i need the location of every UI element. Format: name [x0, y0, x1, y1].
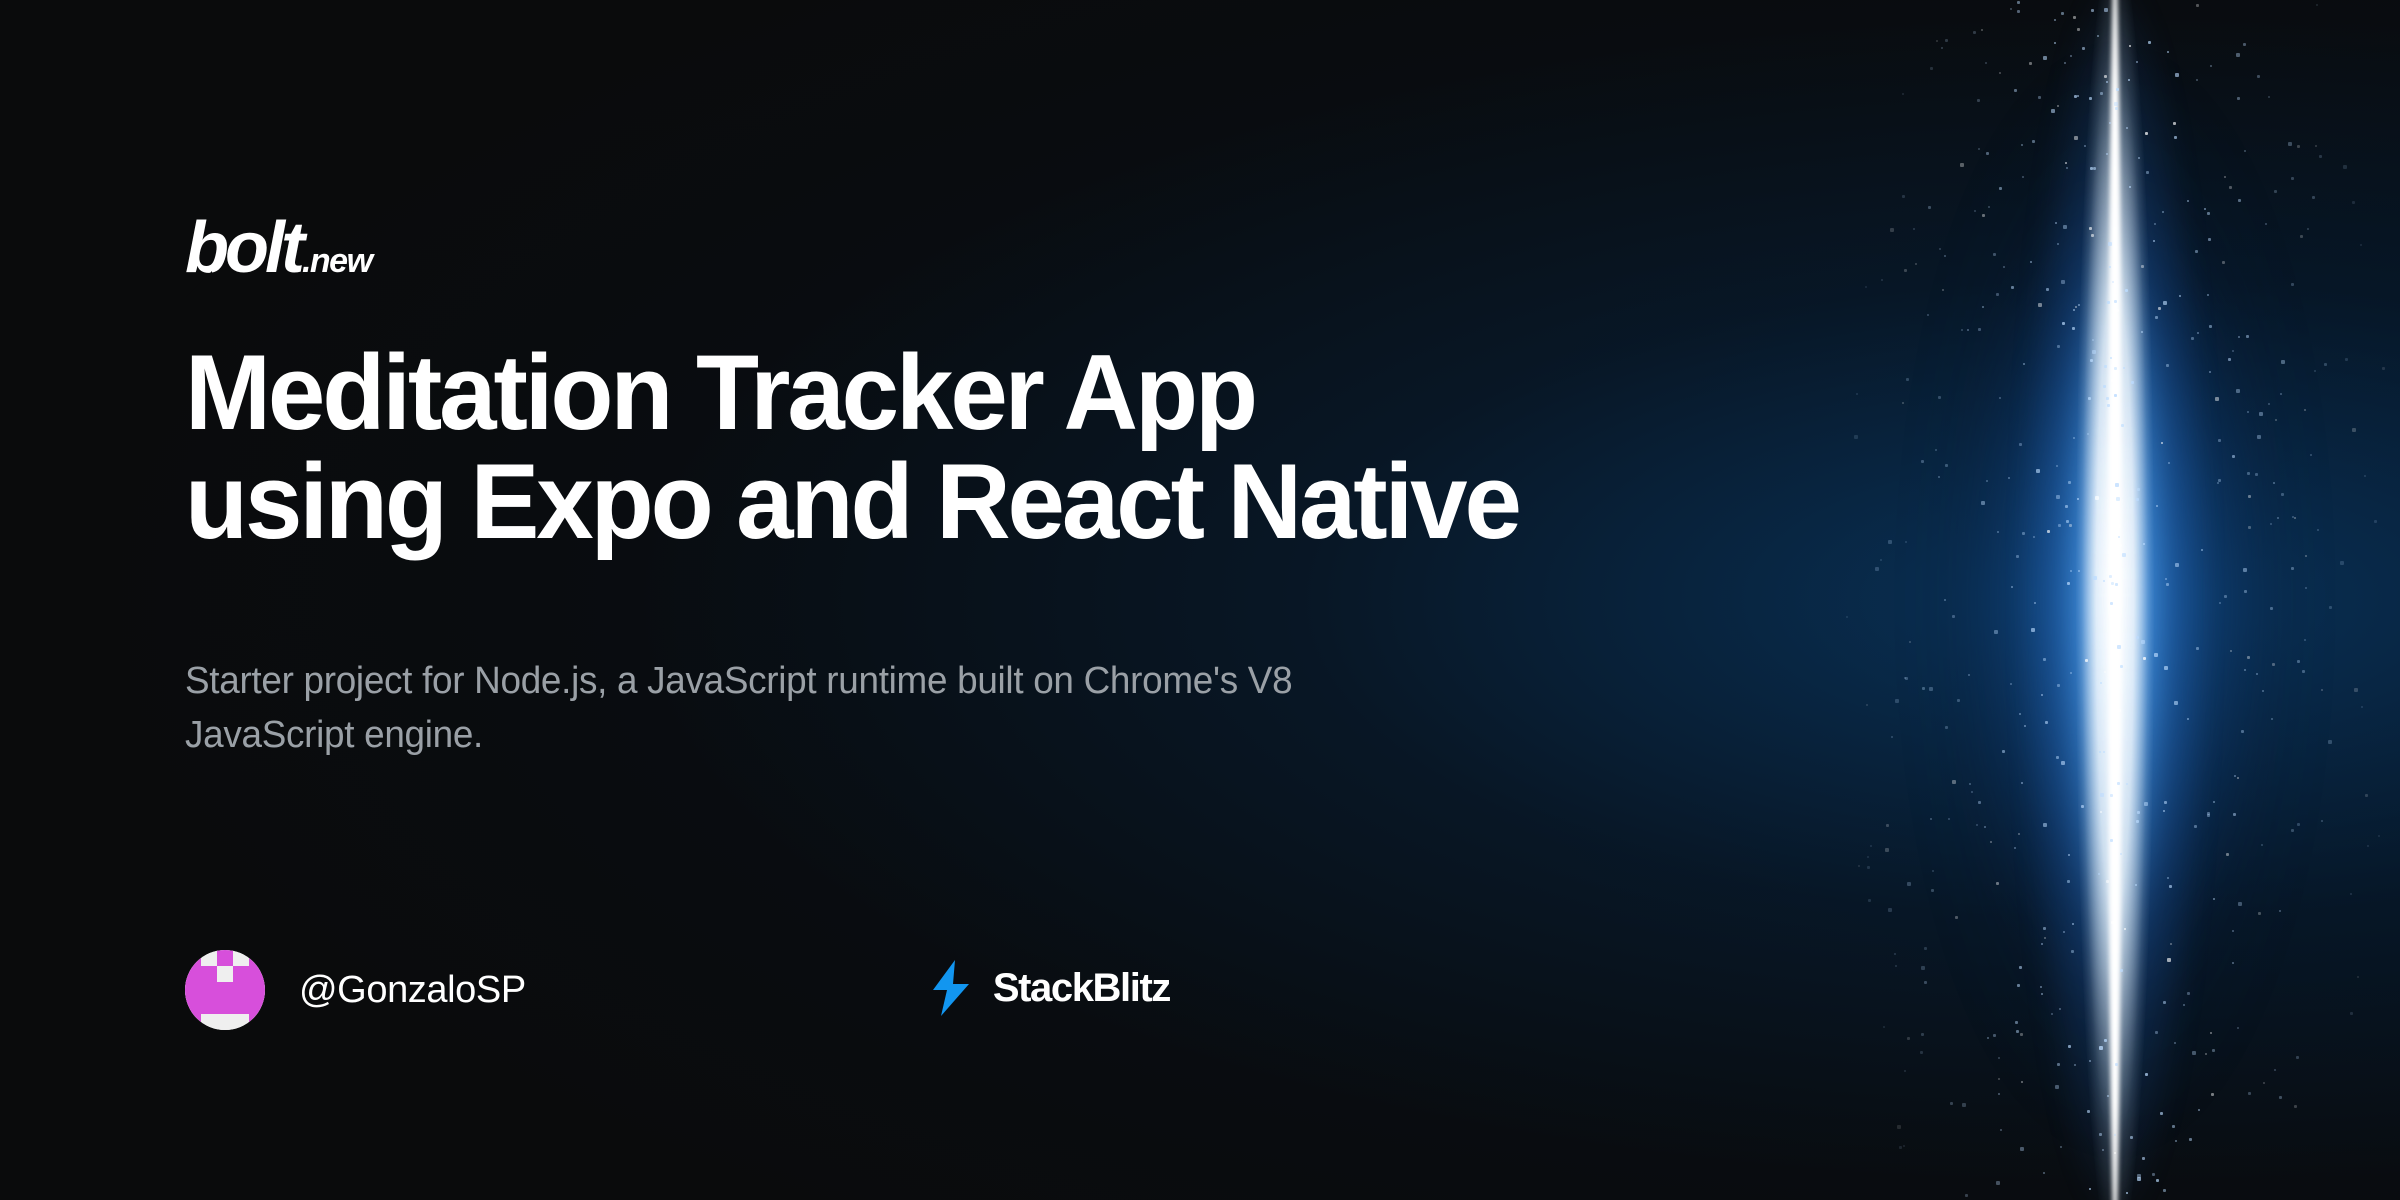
og-card: bolt .new Meditation Tracker App using E…	[0, 0, 2400, 1200]
identicon-avatar	[185, 950, 265, 1030]
bolt-tld: .new	[302, 244, 372, 278]
beam-inner-glow	[2076, 0, 2154, 1200]
avatar	[185, 950, 265, 1030]
beam-core-line	[2109, 0, 2122, 1200]
bolt-wordmark: bolt	[185, 212, 301, 284]
beam-core-hotspot	[2098, 60, 2132, 1140]
stackblitz-logo[interactable]: StackBlitz	[931, 960, 1170, 1016]
page-subtitle: Starter project for Node.js, a JavaScrip…	[185, 655, 1737, 763]
lightning-bolt-icon	[931, 960, 971, 1016]
bolt-new-logo[interactable]: bolt .new	[185, 212, 372, 282]
page-title: Meditation Tracker App using Expo and Re…	[185, 338, 1748, 556]
vertical-light-beam	[1845, 0, 2385, 1200]
author-block[interactable]: @GonzaloSP	[185, 950, 526, 1030]
star-particles	[1845, 0, 2385, 1200]
beam-outer-bloom	[1900, 0, 2330, 1200]
stackblitz-wordmark: StackBlitz	[993, 966, 1170, 1011]
author-handle: @GonzaloSP	[299, 969, 526, 1012]
beam-mid-halo	[2010, 0, 2220, 1200]
